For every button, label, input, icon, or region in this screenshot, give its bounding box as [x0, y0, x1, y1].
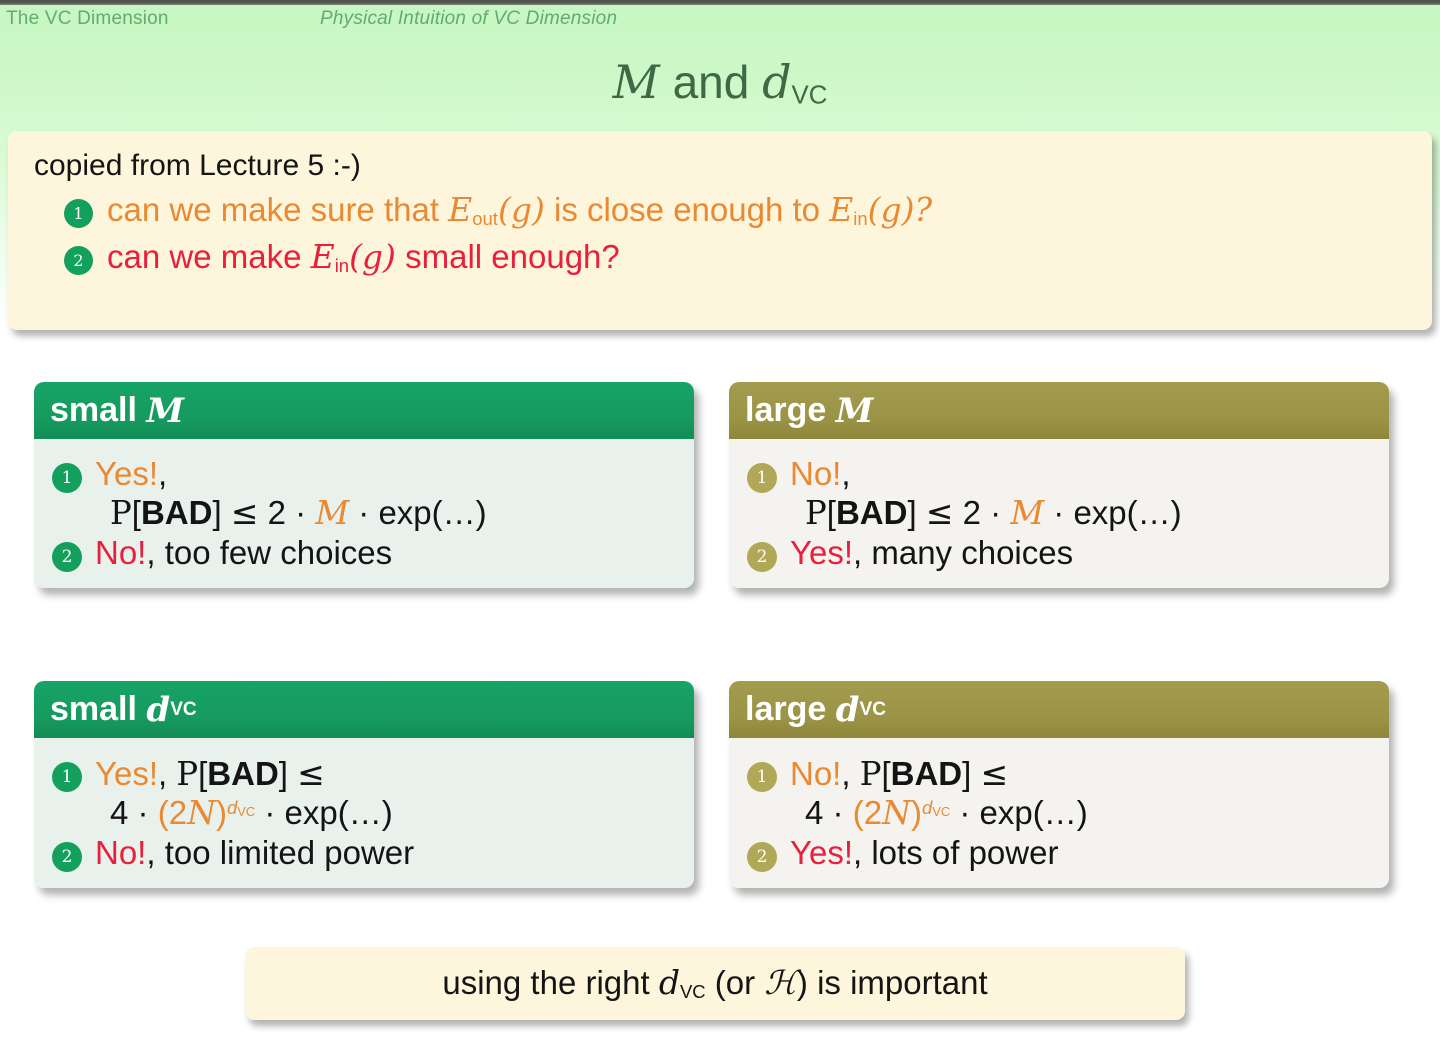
recap-item-2-text: can we make Ein(g) small enough? — [107, 237, 620, 277]
title-conjunction: and — [673, 56, 750, 108]
growth-base-number: 2 — [169, 794, 187, 831]
recap-item-1-eout: E — [448, 190, 472, 229]
panel-large-dvc-item-2-text: Yes!, lots of power — [790, 834, 1058, 872]
dot-operator-2: · — [1053, 494, 1064, 531]
conclusion-post: ) is important — [797, 964, 988, 1001]
panel-small-m-item-1: 1 Yes!, — [52, 455, 684, 493]
panel-large-dvc-title-word: large — [745, 690, 826, 729]
conclusion-symbol-d: d — [659, 963, 680, 1002]
dot-operator-2: · — [959, 794, 970, 831]
exp-open: exp( — [285, 794, 349, 831]
panel-small-dvc-title: small dVC — [34, 681, 694, 738]
exp-open: exp( — [378, 494, 442, 531]
coefficient-4: 4 — [110, 794, 128, 831]
conclusion-symbol-d-subscript: VC — [680, 982, 706, 1003]
list-badge-2: 2 — [64, 246, 93, 275]
recap-item-1-pre: can we make sure that — [107, 191, 448, 228]
panel-small-m-body: 1 Yes!, P[BAD] ≤ 2 · M · exp(…) 2 No!, t… — [34, 439, 694, 588]
panel-large-m-item-1-text: No!, — [790, 455, 851, 493]
title-symbol-d-subscript: VC — [792, 82, 828, 110]
exp-open: exp( — [1073, 494, 1137, 531]
ellipsis: … — [1044, 794, 1077, 831]
panel-small-m-formula: P[BAD] ≤ 2 · M · exp(…) — [110, 493, 684, 532]
panel-small-m-item-1-rest: , — [158, 455, 167, 492]
conclusion-pre: using the right — [442, 964, 658, 1001]
list-badge-2: 2 — [52, 542, 82, 572]
panel-large-dvc: large dVC 1 No!, P[BAD] ≤ 4 · (2N)dVC · … — [729, 681, 1389, 888]
panel-large-dvc-answer-2: Yes! — [790, 834, 853, 871]
bracket-close: ] — [279, 755, 288, 792]
recap-item-1: 1 can we make sure that Eout(g) is close… — [64, 190, 1412, 230]
prob-symbol: P — [110, 494, 132, 532]
panel-large-dvc-item-1-text: No!, P[BAD] ≤ — [790, 754, 1008, 793]
recap-item-2-pre: can we make — [107, 238, 311, 275]
panel-large-dvc-body: 1 No!, P[BAD] ≤ 4 · (2N)dVC · exp(…) 2 Y… — [729, 738, 1389, 888]
panel-large-dvc-item-1: 1 No!, P[BAD] ≤ — [747, 754, 1379, 793]
panel-small-m-answer-2: No! — [95, 534, 146, 571]
dot-operator-1: · — [990, 494, 1001, 531]
panel-large-m-answer-2: Yes! — [790, 534, 853, 571]
list-badge-1: 1 — [52, 762, 82, 792]
recap-item-2-mid: small enough? — [396, 238, 620, 275]
dot-operator-1: · — [295, 494, 306, 531]
exp-close: ) — [1171, 494, 1182, 531]
prob-symbol: P — [860, 755, 882, 793]
panel-large-m-item-2: 2 Yes!, many choices — [747, 534, 1379, 572]
panel-large-m-title: large M — [729, 382, 1389, 439]
panel-small-dvc-title-symbol: d — [146, 690, 170, 730]
bad-label: BAD — [836, 494, 908, 531]
panel-small-dvc-item-2: 2 No!, too limited power — [52, 834, 684, 872]
recap-item-2-ein-arg: (g) — [349, 237, 396, 276]
prob-symbol: P — [176, 755, 198, 793]
panel-large-m: large M 1 No!, P[BAD] ≤ 2 · M · exp(…) 2… — [729, 382, 1389, 588]
less-equal-symbol: ≤ — [231, 493, 259, 532]
less-equal-symbol: ≤ — [297, 754, 325, 793]
panel-small-m-answer-1: Yes! — [95, 455, 158, 492]
growth-base-number: 2 — [864, 794, 882, 831]
growth-exponent: dVC — [227, 797, 255, 818]
bracket-close: ] — [212, 494, 221, 531]
conclusion-symbol-h: ℋ — [764, 963, 797, 1002]
conclusion-text: using the right dVC (or ℋ) is important — [442, 963, 987, 1003]
panel-small-m-item-2-rest: , too few choices — [146, 534, 392, 571]
panel-small-m-item-2-text: No!, too few choices — [95, 534, 392, 572]
panel-large-dvc-answer-1: No! — [790, 755, 841, 792]
recap-callout-box: copied from Lecture 5 :-) 1 can we make … — [8, 131, 1432, 330]
header-section-title: The VC Dimension — [6, 8, 169, 30]
panel-large-m-formula: P[BAD] ≤ 2 · M · exp(…) — [805, 493, 1379, 532]
panel-small-m-item-1-text: Yes!, — [95, 455, 167, 493]
dot-operator-1: · — [138, 794, 149, 831]
bad-label: BAD — [207, 755, 279, 792]
less-equal-symbol: ≤ — [926, 493, 954, 532]
list-badge-2: 2 — [747, 542, 777, 572]
list-badge-1: 1 — [747, 463, 777, 493]
panel-small-m-title-word: small — [50, 391, 137, 430]
bracket-open: [ — [827, 494, 836, 531]
ellipsis: … — [349, 794, 382, 831]
panel-large-dvc-title: large dVC — [729, 681, 1389, 738]
list-badge-1: 1 — [52, 463, 82, 493]
less-equal-symbol: ≤ — [980, 754, 1008, 793]
growth-exponent: dVC — [922, 797, 950, 818]
panel-large-dvc-title-subscript: VC — [860, 699, 886, 721]
list-badge-2: 2 — [52, 842, 82, 872]
panel-large-dvc-item-1-rest: , — [841, 755, 850, 792]
panel-large-m-item-2-text: Yes!, many choices — [790, 534, 1073, 572]
recap-item-1-mid: is close enough to — [545, 191, 829, 228]
panel-large-m-body: 1 No!, P[BAD] ≤ 2 · M · exp(…) 2 Yes!, m… — [729, 439, 1389, 588]
page-title: M and dVC — [0, 55, 1440, 111]
recap-item-1-ein-arg: (g)? — [868, 190, 933, 229]
panel-small-dvc-item-1-rest: , — [158, 755, 167, 792]
panel-large-dvc-item-2-rest: , lots of power — [853, 834, 1058, 871]
conclusion-callout-box: using the right dVC (or ℋ) is important — [245, 947, 1185, 1020]
bracket-close: ] — [962, 755, 971, 792]
exp-close: ) — [382, 794, 393, 831]
panel-small-m: small M 1 Yes!, P[BAD] ≤ 2 · M · exp(…) … — [34, 382, 694, 588]
panel-large-m-title-word: large — [745, 391, 826, 430]
dot-operator-2: · — [358, 494, 369, 531]
conclusion-mid: (or — [706, 964, 765, 1001]
bad-label: BAD — [891, 755, 963, 792]
panel-small-dvc-formula: 4 · (2N)dVC · exp(…) — [110, 793, 684, 832]
panel-small-dvc-item-1-text: Yes!, P[BAD] ≤ — [95, 754, 325, 793]
panel-large-m-item-2-rest: , many choices — [853, 534, 1073, 571]
coefficient-2: 2 — [963, 494, 981, 531]
panel-large-m-item-1-rest: , — [841, 455, 850, 492]
growth-exponent-d: d — [227, 797, 237, 818]
prob-symbol: P — [805, 494, 827, 532]
panel-large-dvc-item-2: 2 Yes!, lots of power — [747, 834, 1379, 872]
recap-item-2-ein-sub: in — [335, 255, 349, 276]
panel-large-m-answer-1: No! — [790, 455, 841, 492]
bracket-open: [ — [198, 755, 207, 792]
panel-small-dvc: small dVC 1 Yes!, P[BAD] ≤ 4 · (2N)dVC ·… — [34, 681, 694, 888]
bad-label: BAD — [141, 494, 213, 531]
coefficient-4: 4 — [805, 794, 823, 831]
panel-large-dvc-formula: 4 · (2N)dVC · exp(…) — [805, 793, 1379, 832]
growth-base: (2N) — [853, 794, 922, 831]
recap-item-2: 2 can we make Ein(g) small enough? — [64, 237, 1412, 277]
panel-small-dvc-title-subscript: VC — [170, 699, 196, 721]
growth-exponent-vc: VC — [932, 804, 950, 819]
panel-large-m-item-1: 1 No!, — [747, 455, 1379, 493]
panel-small-dvc-body: 1 Yes!, P[BAD] ≤ 4 · (2N)dVC · exp(…) 2 … — [34, 738, 694, 888]
recap-item-1-ein: E — [829, 190, 853, 229]
ellipsis: … — [1138, 494, 1171, 531]
ellipsis: … — [443, 494, 476, 531]
panel-large-m-title-symbol: M — [836, 391, 874, 431]
panel-small-m-item-2: 2 No!, too few choices — [52, 534, 684, 572]
recap-lead-text: copied from Lecture 5 :-) — [34, 149, 1412, 183]
list-badge-1: 1 — [747, 762, 777, 792]
panel-large-dvc-title-symbol: d — [836, 690, 860, 730]
recap-item-2-ein: E — [311, 237, 335, 276]
bracket-close: ] — [907, 494, 916, 531]
growth-exponent-vc: VC — [237, 804, 255, 819]
title-symbol-d: d — [762, 55, 791, 109]
bracket-open: [ — [132, 494, 141, 531]
recap-item-1-text: can we make sure that Eout(g) is close e… — [107, 190, 932, 230]
coefficient-2: 2 — [268, 494, 286, 531]
recap-item-1-ein-sub: in — [853, 208, 867, 229]
growth-base-variable: N — [882, 793, 911, 832]
growth-base-variable: N — [187, 793, 216, 832]
formula-symbol-m: M — [1010, 493, 1044, 532]
recap-item-1-eout-sub: out — [472, 208, 498, 229]
growth-exponent-d: d — [922, 797, 932, 818]
header-subsection-title: Physical Intuition of VC Dimension — [320, 8, 617, 30]
growth-base: (2N) — [158, 794, 227, 831]
bracket-open: [ — [881, 755, 890, 792]
dot-operator-1: · — [833, 794, 844, 831]
recap-item-1-eout-arg: (g) — [498, 190, 545, 229]
panel-small-dvc-title-word: small — [50, 690, 137, 729]
panel-small-dvc-item-2-text: No!, too limited power — [95, 834, 414, 872]
panel-small-m-title: small M — [34, 382, 694, 439]
panel-small-dvc-item-1: 1 Yes!, P[BAD] ≤ — [52, 754, 684, 793]
panel-small-dvc-answer-2: No! — [95, 834, 146, 871]
list-badge-1: 1 — [64, 199, 93, 228]
formula-symbol-m: M — [315, 493, 349, 532]
title-symbol-m: M — [613, 55, 660, 109]
exp-open: exp( — [980, 794, 1044, 831]
exp-close: ) — [476, 494, 487, 531]
panel-small-m-title-symbol: M — [146, 391, 184, 431]
exp-close: ) — [1077, 794, 1088, 831]
panel-small-dvc-item-2-rest: , too limited power — [146, 834, 414, 871]
panel-small-dvc-answer-1: Yes! — [95, 755, 158, 792]
list-badge-2: 2 — [747, 842, 777, 872]
dot-operator-2: · — [264, 794, 275, 831]
